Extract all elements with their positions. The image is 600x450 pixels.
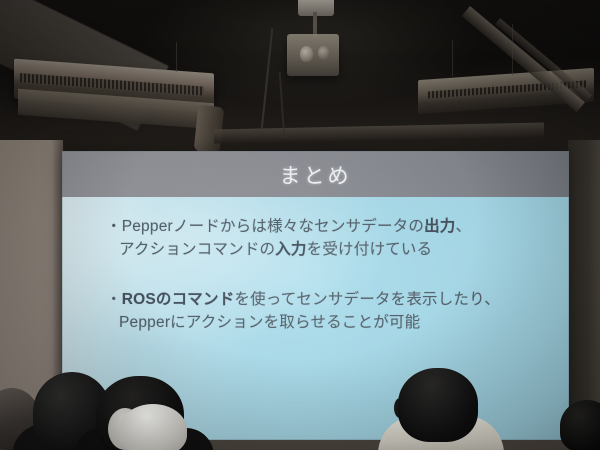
bullet-text-bold: 入力: [275, 241, 306, 258]
bullet-text: アクションコマンドの: [119, 241, 275, 258]
bullet-line: アクションコマンドの入力を受け付けている: [106, 238, 543, 261]
bullet-text: 、: [456, 218, 472, 235]
ceiling-projector: [287, 34, 339, 76]
projector-lens-icon: [300, 46, 313, 62]
ceiling: [0, 0, 600, 152]
person-center-white: [119, 404, 187, 450]
bullet-text: Pepperノードからは様々なセンサデータの: [122, 218, 424, 235]
bullet-text-bold: 出力: [424, 218, 455, 235]
bullet-item: ・Pepperノードからは様々なセンサデータの出力、 アクションコマンドの入力を…: [106, 215, 543, 261]
hanger-rod: [452, 40, 453, 76]
bullet-line: Pepperにアクションを取らせることが可能: [106, 311, 543, 334]
hanging-cable: [261, 28, 274, 130]
bullet-marker: ・: [106, 291, 122, 308]
hanger-rod: [512, 24, 513, 76]
slide-bullet-list: ・Pepperノードからは様々なセンサデータの出力、 アクションコマンドの入力を…: [106, 215, 543, 334]
bullet-line: ・Pepperノードからは様々なセンサデータの出力、: [106, 215, 543, 238]
slide-header-band: まとめ: [62, 151, 569, 197]
bullet-marker: ・: [106, 218, 122, 235]
bullet-item: ・ROSのコマンドを使ってセンサデータを表示したり、 Pepperにアクションを…: [106, 288, 543, 334]
bullet-text: を使ってセンサデータを表示したり、: [234, 291, 500, 308]
bullet-line: ・ROSのコマンドを使ってセンサデータを表示したり、: [106, 288, 543, 311]
hanger-rod: [176, 42, 177, 72]
bullet-text: Pepperにアクションを取らせることが可能: [119, 314, 420, 331]
person-right: [398, 368, 478, 442]
bullet-text: を受け付けている: [307, 241, 433, 258]
projector-lens-secondary-icon: [318, 46, 329, 60]
bullet-text-bold: ROSのコマンド: [122, 291, 235, 308]
presentation-room-photo: まとめ ・Pepperノードからは様々なセンサデータの出力、 アクションコマンド…: [0, 0, 600, 450]
slide-title: まとめ: [280, 160, 352, 190]
pipe-run: [214, 123, 544, 144]
